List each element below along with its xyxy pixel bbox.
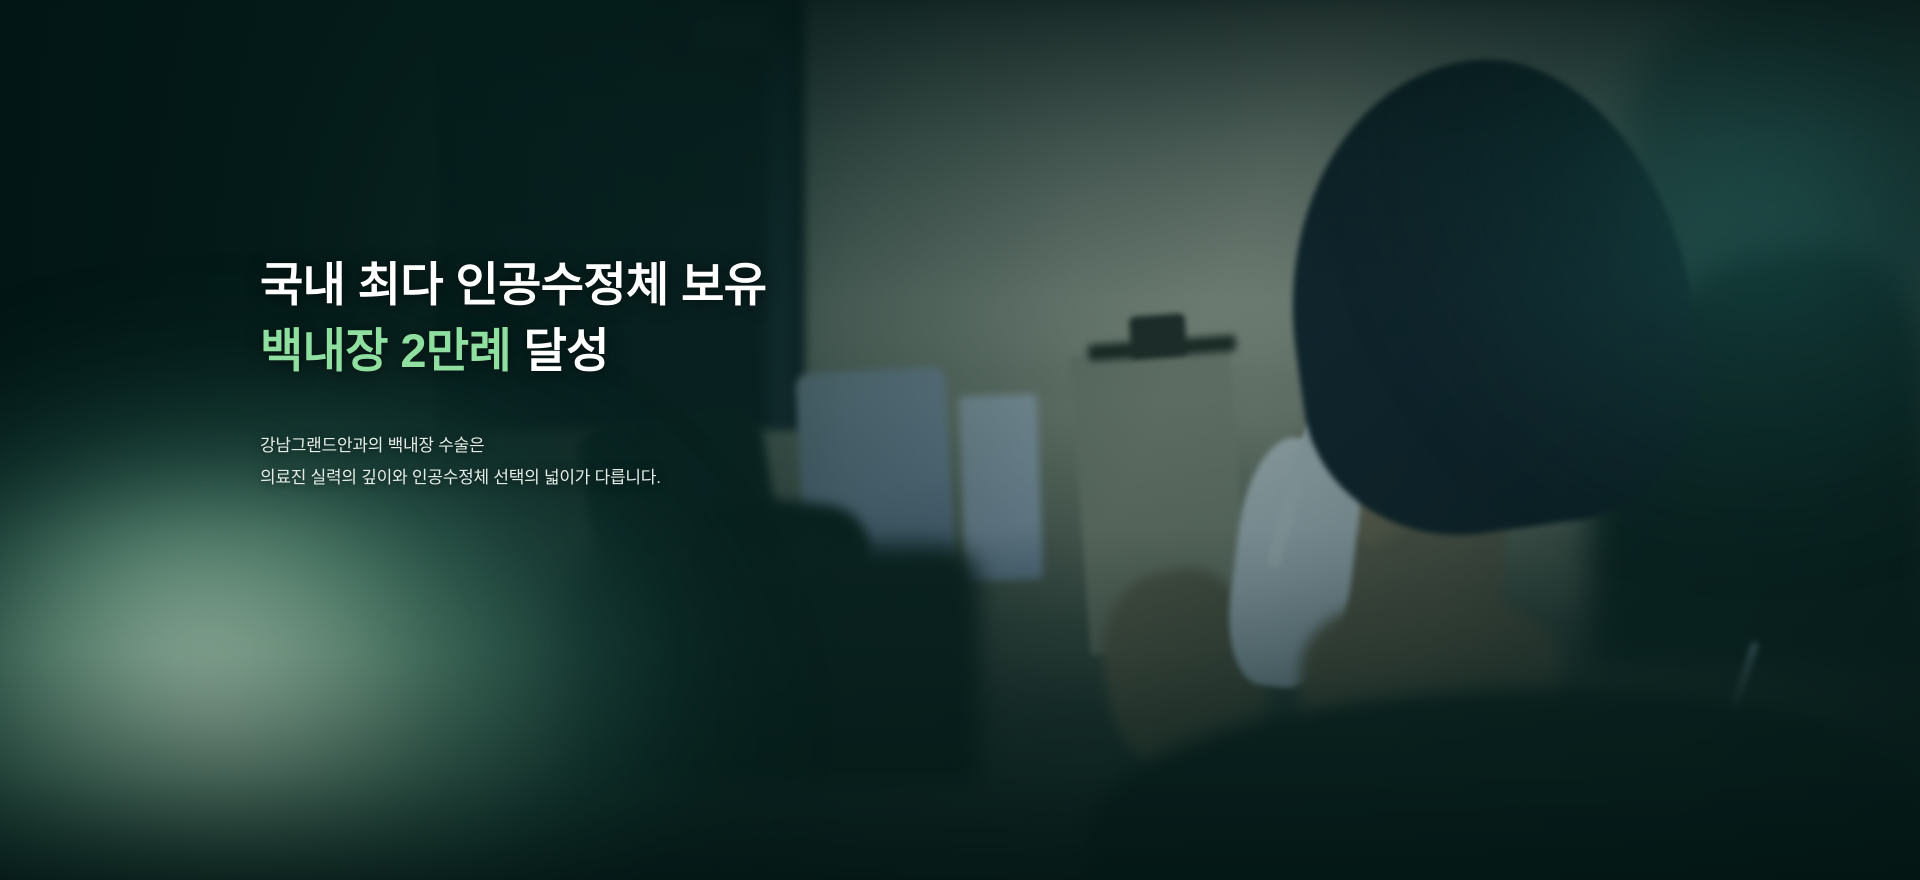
hero-headline-line-2: 백내장 2만례 달성 — [260, 318, 1080, 384]
hero-banner: 국내 최다 인공수정체 보유 백내장 2만례 달성 강남그랜드안과의 백내장 수… — [0, 0, 1920, 880]
hero-copy-block: 국내 최다 인공수정체 보유 백내장 2만례 달성 강남그랜드안과의 백내장 수… — [260, 252, 1080, 495]
hero-subcopy-line-2: 의료진 실력의 깊이와 인공수정체 선택의 넓이가 다릅니다. — [260, 462, 1080, 495]
hero-headline-line-2-rest: 달성 — [511, 324, 609, 377]
hero-subcopy: 강남그랜드안과의 백내장 수술은 의료진 실력의 깊이와 인공수정체 선택의 넓… — [260, 430, 1080, 495]
hero-headline-accent: 백내장 2만례 — [260, 324, 511, 377]
hero-headline: 국내 최다 인공수정체 보유 백내장 2만례 달성 — [260, 252, 1080, 384]
hero-headline-line-1: 국내 최다 인공수정체 보유 — [260, 252, 1080, 318]
hero-subcopy-line-1: 강남그랜드안과의 백내장 수술은 — [260, 430, 1080, 463]
